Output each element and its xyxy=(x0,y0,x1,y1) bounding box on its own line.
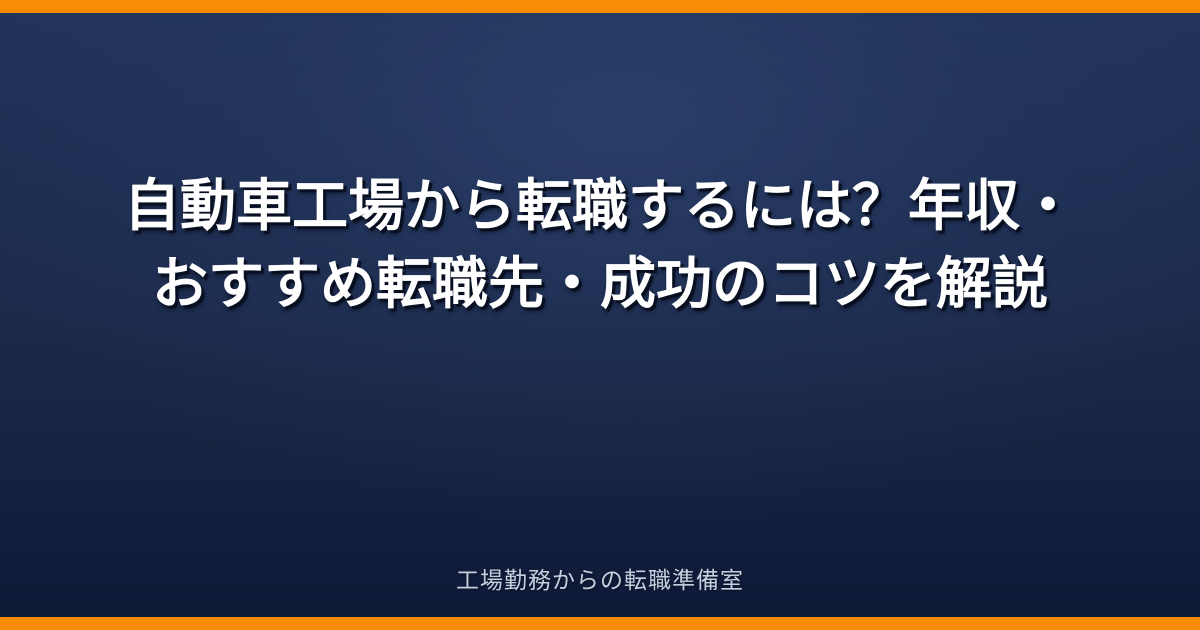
title-block: 自動車工場から転職するには？年収・おすすめ転職先・成功のコツを解説 xyxy=(100,168,1100,324)
bottom-accent-bar xyxy=(0,617,1200,630)
top-accent-bar xyxy=(0,0,1200,13)
site-name-block: 工場勤務からの転職準備室 xyxy=(0,566,1200,596)
page-title: 自動車工場から転職するには？年収・おすすめ転職先・成功のコツを解説 xyxy=(100,168,1100,324)
card-content: 自動車工場から転職するには？年収・おすすめ転職先・成功のコツを解説 工場勤務から… xyxy=(0,13,1200,617)
site-name: 工場勤務からの転職準備室 xyxy=(0,566,1200,596)
og-image-card: 自動車工場から転職するには？年収・おすすめ転職先・成功のコツを解説 工場勤務から… xyxy=(0,0,1200,630)
